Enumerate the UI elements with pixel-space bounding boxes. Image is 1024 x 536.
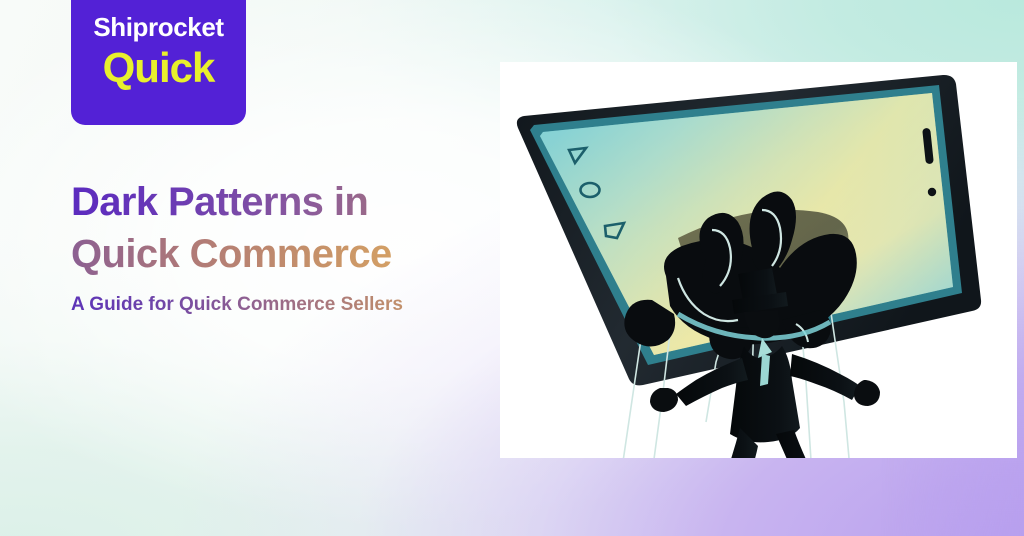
page-subtitle: A Guide for Quick Commerce Sellers xyxy=(71,292,471,318)
marionette-left-hand xyxy=(650,388,678,412)
marionette-right-leg xyxy=(776,430,832,458)
brand-logo-secondary-text: Quick xyxy=(71,44,246,92)
headline-block: Dark Patterns in Quick Commerce A Guide … xyxy=(71,176,471,318)
page-title-line-2: Quick Commerce xyxy=(71,228,471,280)
marionette-right-arm xyxy=(790,354,860,400)
puppeteer-illustration xyxy=(500,62,1017,458)
marketing-banner: Shiprocket Quick Dark Patterns in Quick … xyxy=(0,0,1024,536)
brand-logo-badge[interactable]: Shiprocket Quick xyxy=(71,0,246,125)
device-front-camera-icon xyxy=(928,188,936,196)
brand-logo-primary-text: Shiprocket xyxy=(71,12,246,42)
page-title-line-1: Dark Patterns in xyxy=(71,176,471,228)
illustration-card xyxy=(500,62,1017,458)
marionette-right-hand xyxy=(854,380,880,406)
